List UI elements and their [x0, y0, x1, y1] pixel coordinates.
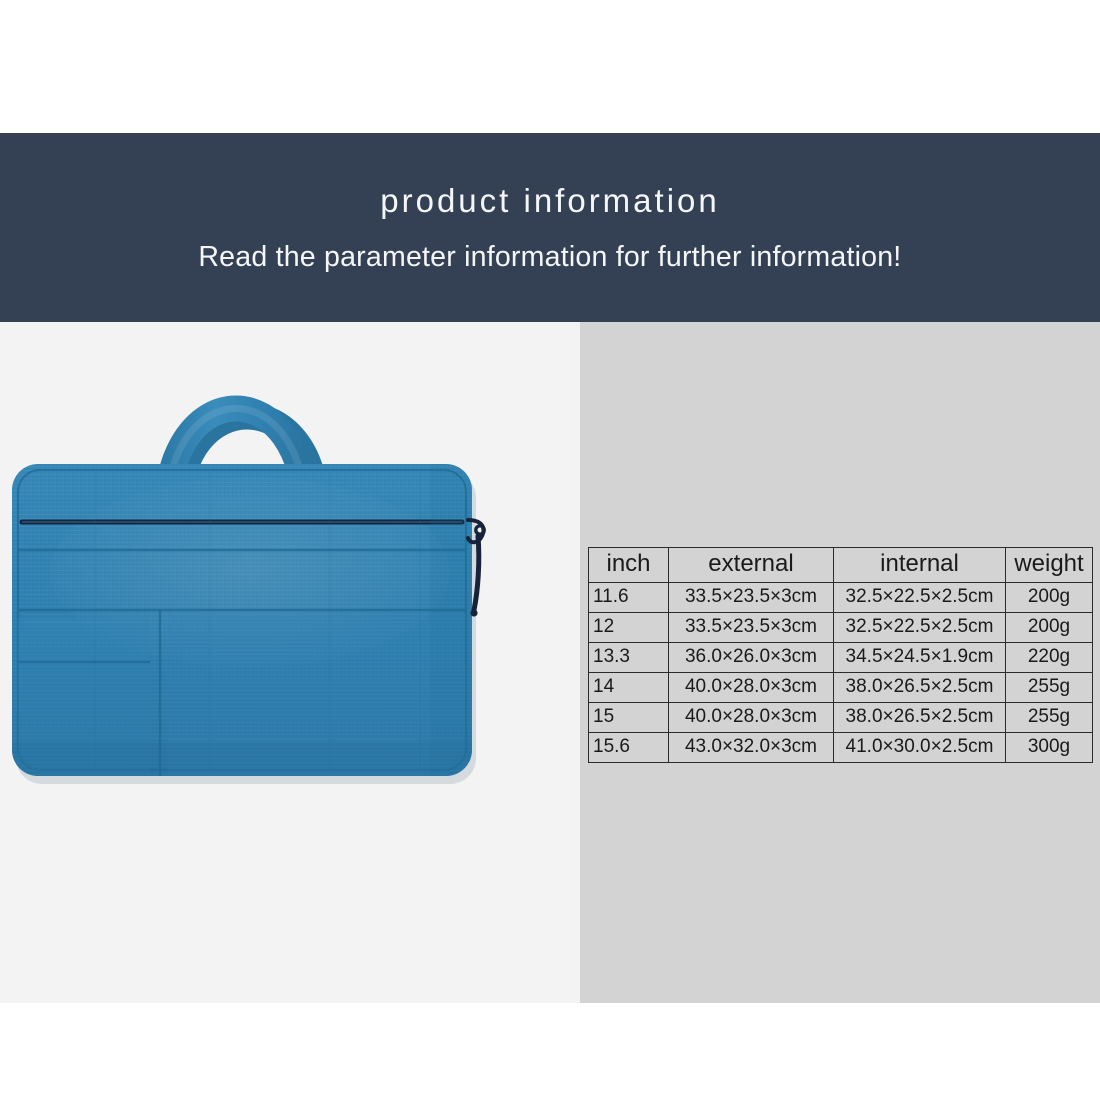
- cell-external: 40.0×28.0×3cm: [669, 703, 834, 733]
- cell-weight: 200g: [1006, 583, 1093, 613]
- bottom-margin: [0, 1003, 1100, 1100]
- cell-external: 43.0×32.0×3cm: [669, 733, 834, 763]
- column-header-external: external: [669, 548, 834, 583]
- cell-weight: 255g: [1006, 703, 1093, 733]
- cell-inch: 15: [589, 703, 669, 733]
- table-row: 15 40.0×28.0×3cm 38.0×26.5×2.5cm 255g: [589, 703, 1093, 733]
- table-row: 11.6 33.5×23.5×3cm 32.5×22.5×2.5cm 200g: [589, 583, 1093, 613]
- cell-weight: 200g: [1006, 613, 1093, 643]
- cell-internal: 32.5×22.5×2.5cm: [834, 613, 1006, 643]
- cell-external: 33.5×23.5×3cm: [669, 583, 834, 613]
- cell-internal: 34.5×24.5×1.9cm: [834, 643, 1006, 673]
- cell-weight: 220g: [1006, 643, 1093, 673]
- cell-inch: 15.6: [589, 733, 669, 763]
- cell-internal: 38.0×26.5×2.5cm: [834, 703, 1006, 733]
- table-header-row: inch external internal weight: [589, 548, 1093, 583]
- cell-weight: 300g: [1006, 733, 1093, 763]
- bag-bottom-shade: [12, 742, 472, 782]
- spec-table-holder: inch external internal weight 11.6 33.5×…: [588, 547, 1092, 763]
- cell-external: 33.5×23.5×3cm: [669, 613, 834, 643]
- column-header-inch: inch: [589, 548, 669, 583]
- cell-weight: 255g: [1006, 673, 1093, 703]
- cell-inch: 12: [589, 613, 669, 643]
- top-margin: [0, 0, 1100, 133]
- table-row: 13.3 36.0×26.0×3cm 34.5×24.5×1.9cm 220g: [589, 643, 1093, 673]
- product-photo-pane: [0, 322, 580, 1003]
- cell-inch: 14: [589, 673, 669, 703]
- column-header-internal: internal: [834, 548, 1006, 583]
- bag-side-shade: [430, 464, 476, 776]
- cell-external: 36.0×26.0×3cm: [669, 643, 834, 673]
- laptop-bag-image: [0, 322, 580, 1003]
- cell-inch: 11.6: [589, 583, 669, 613]
- bag-body: [12, 464, 476, 784]
- column-header-weight: weight: [1006, 548, 1093, 583]
- cell-internal: 38.0×26.5×2.5cm: [834, 673, 1006, 703]
- bag-illustration: [0, 322, 580, 1003]
- zipper-tab-end: [470, 609, 477, 616]
- specification-table: inch external internal weight 11.6 33.5×…: [588, 547, 1093, 763]
- cell-internal: 41.0×30.0×2.5cm: [834, 733, 1006, 763]
- cell-external: 40.0×28.0×3cm: [669, 673, 834, 703]
- table-row: 12 33.5×23.5×3cm 32.5×22.5×2.5cm 200g: [589, 613, 1093, 643]
- table-row: 15.6 43.0×32.0×3cm 41.0×30.0×2.5cm 300g: [589, 733, 1093, 763]
- product-information-page: product information Read the parameter i…: [0, 0, 1100, 1100]
- cell-inch: 13.3: [589, 643, 669, 673]
- content-row: inch external internal weight 11.6 33.5×…: [0, 322, 1100, 1003]
- banner: product information Read the parameter i…: [0, 133, 1100, 322]
- page-title: product information: [380, 184, 719, 217]
- table-row: 14 40.0×28.0×3cm 38.0×26.5×2.5cm 255g: [589, 673, 1093, 703]
- cell-internal: 32.5×22.5×2.5cm: [834, 583, 1006, 613]
- spec-panel: inch external internal weight 11.6 33.5×…: [580, 322, 1100, 1003]
- page-subtitle: Read the parameter information for furth…: [198, 243, 901, 272]
